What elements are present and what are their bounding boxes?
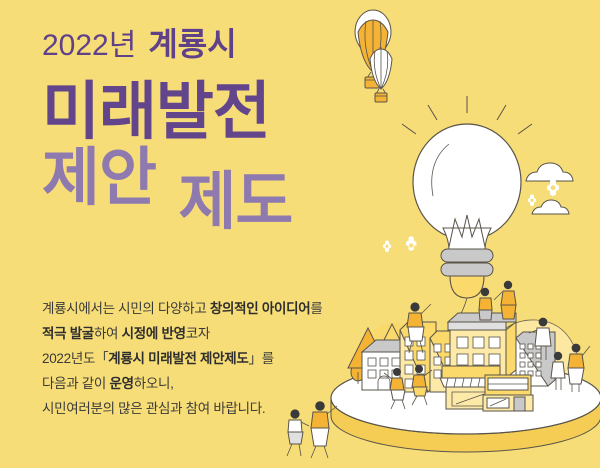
cloud-small-icon [532, 200, 569, 214]
city-label: 계룡시 [148, 28, 236, 60]
page-title-line2: 제안 제도 [42, 146, 442, 210]
body-copy: 계룡시에서는 시민의 다양하고 창의적인 아이디어를 적극 발굴하여 시정에 반… [42, 296, 372, 421]
person-right-a [551, 352, 565, 390]
year-city-line: 2022년 계룡시 [42, 28, 442, 70]
person-right-b [568, 344, 590, 392]
headline-block: 2022년 계룡시 미래발전 제안 제도 [42, 28, 442, 211]
body-line-3-c: 」를 [249, 351, 274, 366]
body-line-1-b: 창의적인 아이디어 [210, 301, 310, 316]
page-title-line1: 미래발전 [42, 80, 442, 144]
page-title-line2-a: 제안 [42, 143, 156, 213]
body-line-1: 계룡시에서는 시민의 다양하고 창의적인 아이디어를 [42, 296, 372, 321]
year-label: 2022년 [42, 31, 136, 61]
body-line-2: 적극 발굴하여 시정에 반영코자 [42, 321, 372, 346]
background-hills [352, 320, 582, 378]
person-roof-center-b [494, 281, 516, 319]
body-line-2-b: 하여 [94, 326, 122, 341]
body-line-4: 다음과 같이 운영하오니, [42, 371, 372, 396]
gear-sparkle-title-icon [383, 240, 391, 252]
body-line-2-d: 코자 [186, 326, 210, 341]
person-kid-a [384, 368, 405, 409]
body-line-3-b: 계룡시 미래발전 제안제도 [108, 351, 248, 366]
platform-trees [351, 346, 520, 398]
person-standing-white [529, 318, 551, 360]
page-title-line2-b: 제도 [178, 170, 292, 234]
body-line-4-a: 다음과 같이 [42, 376, 110, 391]
body-line-2-a: 적극 발굴 [42, 326, 94, 341]
body-line-5: 시민여러분의 많은 관심과 참여 바랍니다. [42, 396, 372, 421]
body-line-1-a: 계룡시에서는 시민의 다양하고 [42, 301, 210, 316]
body-line-3: 2022년도「계룡시 미래발전 제안제도」를 [42, 346, 372, 371]
body-line-4-b: 운영 [110, 376, 134, 391]
cloud-large-icon [526, 163, 573, 181]
city-buildings [362, 313, 555, 411]
body-line-3-a: 2022년도「 [42, 351, 108, 366]
person-kid-b [412, 365, 432, 405]
person-roof-center-a [479, 288, 492, 320]
gear-sparkle-right-large-icon [547, 179, 559, 196]
person-roof-left [407, 302, 431, 353]
body-line-2-c: 시정에 반영 [122, 326, 186, 341]
gear-sparkle-right-small-icon [528, 194, 536, 206]
poster-canvas: .ol { stroke:#59544a; stroke-width:1; fi… [0, 0, 600, 468]
body-line-4-c: 하오니, [134, 376, 174, 391]
gear-sparkle-left-icon [406, 236, 416, 251]
body-line-1-c: 를 [310, 301, 322, 316]
